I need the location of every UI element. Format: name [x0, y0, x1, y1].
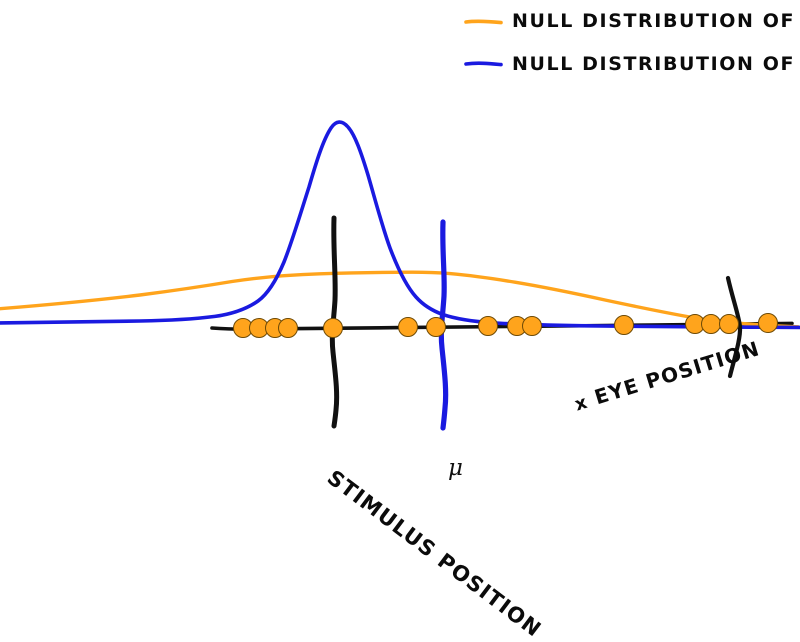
data-point[interactable] [324, 319, 343, 338]
mu-label: μ [448, 455, 463, 481]
legend-swatch-group [466, 21, 501, 64]
data-point[interactable] [702, 315, 721, 334]
data-point[interactable] [720, 315, 739, 334]
legend-swatch-null-distribution-t [466, 63, 501, 64]
data-point[interactable] [615, 316, 634, 335]
legend-item-null-distribution-t[interactable]: NULL DISTRIBUTION OF t [512, 51, 800, 75]
data-point[interactable] [427, 318, 446, 337]
data-point[interactable] [523, 317, 542, 336]
data-point[interactable] [399, 318, 418, 337]
figure-root: NULL DISTRIBUTION OF x NULL DISTRIBUTION… [0, 0, 800, 600]
legend-item-null-distribution-x[interactable]: NULL DISTRIBUTION OF x [512, 10, 800, 32]
curve-null-distribution-x [0, 272, 798, 327]
chart-canvas [0, 0, 800, 600]
legend-swatch-null-distribution-x [466, 21, 501, 22]
data-point[interactable] [479, 317, 498, 336]
legend-label-prefix: NULL DISTRIBUTION OF [512, 10, 795, 32]
data-point[interactable] [759, 314, 778, 333]
legend-label-prefix: NULL DISTRIBUTION OF [512, 53, 795, 75]
data-point[interactable] [279, 319, 298, 338]
